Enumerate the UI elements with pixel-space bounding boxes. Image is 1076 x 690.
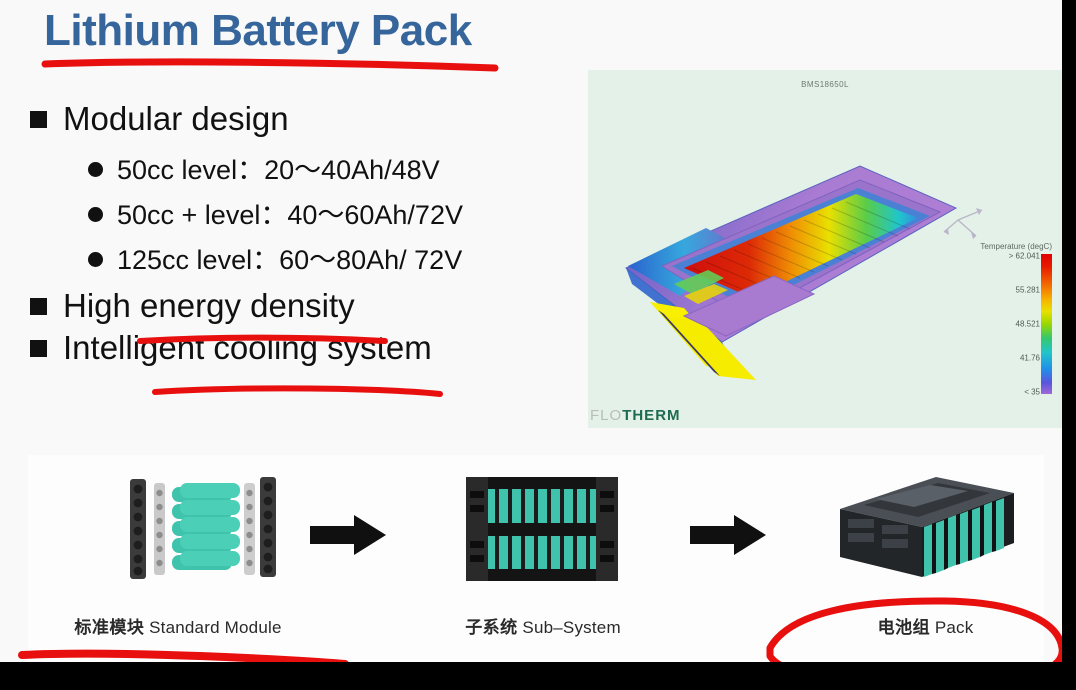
stage-label-sub-system: 子系统 Sub–System <box>428 613 658 638</box>
square-bullet-icon <box>30 298 47 315</box>
underline-title-mark <box>45 62 495 68</box>
temperature-legend: Temperature (degC) > 62.041 55.281 48.52… <box>956 242 1052 394</box>
bullet-item-125cc: 125cc level：60～80Ah/ 72V <box>88 238 575 277</box>
stage-label-en: Standard Module <box>149 618 281 637</box>
legend-tick: 55.281 <box>1016 286 1040 295</box>
legend-title: Temperature (degC) <box>956 242 1052 251</box>
square-bullet-icon <box>30 111 47 128</box>
thermal-simulation-figure: BMS18650L <box>588 70 1062 428</box>
sub-system-battery-block-icon <box>428 465 658 590</box>
arrow-right-icon <box>308 513 388 557</box>
bullet-item-high-energy-density: High energy density <box>30 287 575 325</box>
round-bullet-icon <box>88 162 103 177</box>
workflow-arrow-2 <box>688 513 768 562</box>
arrow-right-icon <box>688 513 768 557</box>
legend-tick: < 35 <box>1024 388 1040 397</box>
right-black-edge <box>1062 0 1076 690</box>
bullet-text: High energy density <box>63 287 355 325</box>
stage-label-pack: 电池组 Pack <box>818 613 1033 638</box>
slide-canvas: Lithium Battery Pack Modular design 50cc… <box>0 0 1076 690</box>
legend-color-bar <box>1041 254 1052 394</box>
flotherm-logo-prefix: FLO <box>590 407 622 424</box>
bottom-black-edge <box>0 662 1076 690</box>
bullet-item-modular-design: Modular design <box>30 100 575 138</box>
stage-label-cn: 子系统 <box>465 618 518 637</box>
square-bullet-icon <box>30 340 47 357</box>
legend-tick: 48.521 <box>1016 320 1040 329</box>
workflow-stage-pack: 电池组 Pack <box>818 465 1033 638</box>
battery-pack-assembly-icon <box>818 465 1033 590</box>
bullet-text: Modular design <box>63 100 289 138</box>
flotherm-logo: FLOTHERM <box>590 407 681 424</box>
bullet-list: Modular design 50cc level：20～40Ah/48V 50… <box>30 100 575 371</box>
bullet-text: 125cc level：60～80Ah/ 72V <box>117 238 462 277</box>
round-bullet-icon <box>88 252 103 267</box>
round-bullet-icon <box>88 207 103 222</box>
stage-label-cn: 标准模块 <box>74 618 144 637</box>
bullet-text: 50cc level：20～40Ah/48V <box>117 148 440 187</box>
legend-tick: 41.76 <box>1020 354 1040 363</box>
page-title: Lithium Battery Pack <box>44 6 472 56</box>
workflow-stage-sub-system: 子系统 Sub–System <box>428 465 658 638</box>
stage-label-en: Pack <box>935 618 974 637</box>
flotherm-logo-suffix: THERM <box>622 407 680 424</box>
stage-label-cn: 电池组 <box>878 618 931 637</box>
stage-label-en: Sub–System <box>522 618 620 637</box>
bullet-item-50cc-plus: 50cc + level：40～60Ah/72V <box>88 193 575 232</box>
bullet-text: Intelligent cooling system <box>63 329 432 367</box>
standard-module-exploded-view-icon <box>68 465 288 590</box>
underline-intelligent-cooling-system-mark <box>155 388 440 394</box>
workflow-stage-standard-module: 标准模块 Standard Module <box>68 465 288 638</box>
bullet-item-intelligent-cooling-system: Intelligent cooling system <box>30 329 575 367</box>
workflow-strip: 标准模块 Standard Module <box>28 455 1044 662</box>
workflow-arrow-1 <box>308 513 388 562</box>
bullet-item-50cc: 50cc level：20～40Ah/48V <box>88 148 575 187</box>
legend-tick: > 62.041 <box>1009 252 1040 261</box>
bullet-text: 50cc + level：40～60Ah/72V <box>117 193 463 232</box>
stage-label-standard-module: 标准模块 Standard Module <box>68 613 288 638</box>
